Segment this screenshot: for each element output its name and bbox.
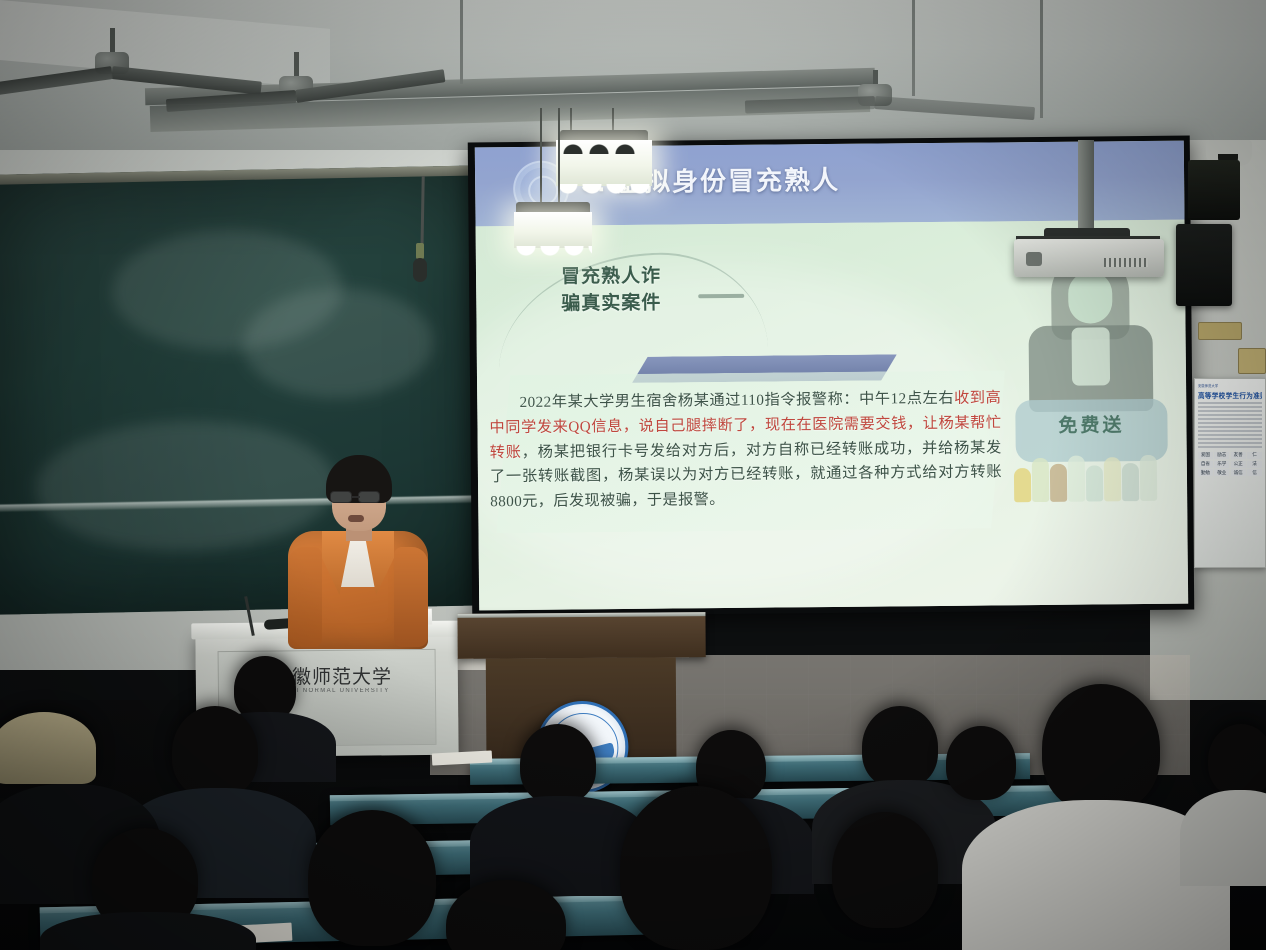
poster-text-line	[1198, 438, 1262, 440]
lamp-wire	[540, 108, 542, 204]
ceiling-hanger-rod	[1040, 0, 1043, 118]
poster-text-line	[1198, 446, 1262, 448]
student-head	[1042, 684, 1160, 812]
eyeglasses-icon	[358, 491, 380, 503]
hand-icon	[1032, 458, 1049, 502]
hanging-microphone	[413, 258, 427, 282]
poster-text-line	[1198, 410, 1262, 412]
poster-title: 高等学校学生行为准则	[1198, 390, 1262, 400]
projector-mount-pole	[1078, 140, 1094, 236]
fluorescent-pendant-lamp	[556, 108, 652, 178]
fan-blade	[745, 96, 875, 114]
decorative-dash	[698, 294, 744, 298]
scam-illustration: 免费送	[1006, 247, 1178, 504]
student-head-with-cap	[0, 712, 96, 784]
hanging-microphone-clip	[416, 243, 424, 259]
student-code-poster: 安徽师范大学 高等学校学生行为准则 爱国励志友善仁自省乐学公正法勤勉敬业诚信信	[1194, 378, 1266, 568]
fan-blade	[166, 90, 297, 112]
poster-virtue-cell: 仁	[1247, 452, 1262, 459]
lamp-notch	[556, 140, 652, 154]
giveaway-sign-text: 免费送	[1007, 410, 1175, 439]
poster-virtue-cell: 法	[1247, 461, 1262, 468]
reaching-hands-group	[1008, 433, 1179, 503]
poster-text-line	[1198, 442, 1262, 444]
student-head	[1208, 724, 1266, 796]
lamp-tubes	[514, 212, 592, 248]
poster-text-line	[1198, 434, 1262, 436]
podium-university-name: 安徽师范大学	[272, 662, 442, 689]
case-study-text: 2022年某大学男生宿舍杨某通过110指令报警称：中午12点左右收到高中同学发来…	[489, 386, 1002, 515]
wall-plaque	[1198, 322, 1242, 340]
fan-rod	[294, 52, 299, 78]
fan-rod	[110, 28, 115, 54]
slide-section-label-line1: 冒充熟人诈	[561, 264, 661, 292]
eyeglasses-bridge	[352, 496, 360, 498]
student-head	[620, 786, 772, 950]
poster-virtue-cell: 励志	[1214, 452, 1229, 459]
student-head	[520, 724, 596, 804]
lamp-tubes	[556, 140, 652, 186]
hand-icon	[1122, 463, 1139, 501]
hand-icon	[1068, 456, 1085, 502]
student-head	[832, 812, 938, 928]
lamp-wire	[570, 108, 572, 132]
ceiling-fan	[760, 70, 990, 120]
presenter	[282, 455, 432, 645]
poster-virtue-cell: 敬业	[1214, 469, 1229, 476]
poster-text-line	[1198, 406, 1262, 408]
wall-plaque	[1238, 348, 1266, 374]
hand-icon	[1050, 464, 1067, 502]
poster-virtue-cell: 勤勉	[1198, 469, 1213, 476]
poster-text-line	[1198, 414, 1262, 416]
poster-virtue-cell: 自省	[1198, 461, 1213, 468]
hand-icon	[1104, 457, 1121, 501]
lamp-wire	[558, 108, 560, 204]
presenter-arm-left	[288, 547, 322, 647]
poster-logo-text: 安徽师范大学	[1198, 383, 1262, 388]
poster-text-line	[1198, 422, 1262, 424]
projector-vent	[1104, 258, 1148, 267]
slide-section-label-line2: 骗真实案件	[561, 291, 661, 319]
poster-virtue-cell: 爱国	[1198, 452, 1213, 459]
eyeglasses-icon	[330, 491, 352, 503]
poster-virtue-cell: 诚信	[1231, 469, 1246, 476]
case-text-run: 2022年某大学男生宿舍杨某通过110指令报警称：中午12点左右	[520, 390, 955, 411]
presenter-arm-right	[394, 547, 428, 647]
lamp-wire	[612, 108, 614, 132]
presenter-mouth	[348, 515, 364, 522]
hand-icon	[1014, 468, 1031, 502]
lectern-top-surface	[457, 612, 705, 659]
student-head	[172, 706, 258, 798]
poster-virtue-cell: 友善	[1231, 452, 1246, 459]
slide-section-label: 冒充熟人诈 骗真实案件	[561, 264, 662, 319]
poster-virtue-cell: 信	[1247, 469, 1262, 476]
ceiling-fan	[176, 52, 416, 112]
student-head	[862, 706, 938, 788]
student-head	[946, 726, 1016, 800]
poster-text-line	[1198, 430, 1262, 432]
hand-icon	[1140, 455, 1157, 501]
ceiling-hanger-rod	[460, 0, 463, 84]
poster-text-line	[1198, 426, 1262, 428]
student-shoulders	[1180, 790, 1266, 886]
poster-virtue-cell: 乐学	[1214, 461, 1229, 468]
poster-virtue-grid: 爱国励志友善仁自省乐学公正法勤勉敬业诚信信	[1198, 452, 1262, 477]
fluorescent-pendant-lamp	[516, 200, 596, 260]
hand-icon	[1086, 465, 1103, 501]
inner-shirt	[1072, 327, 1111, 385]
wall-speaker	[1176, 224, 1232, 306]
poster-virtue-cell: 公正	[1231, 461, 1246, 468]
wall-speaker	[1188, 160, 1240, 220]
case-text-run: ，杨某把银行卡号发给对方后，对方自称已经转账成功，并给杨某发了一张转账截图，杨某…	[490, 439, 1002, 510]
poster-text-line	[1198, 418, 1262, 420]
poster-text-line	[1198, 402, 1262, 404]
faceless-head-icon	[1068, 271, 1112, 323]
student-head	[308, 810, 436, 946]
projector-lens	[1026, 252, 1042, 266]
lecture-hall-photo: 5. 虚拟身份冒充熟人 冒充熟人诈 骗真实案件 2022年某大学男生宿舍杨某通过…	[0, 0, 1266, 950]
